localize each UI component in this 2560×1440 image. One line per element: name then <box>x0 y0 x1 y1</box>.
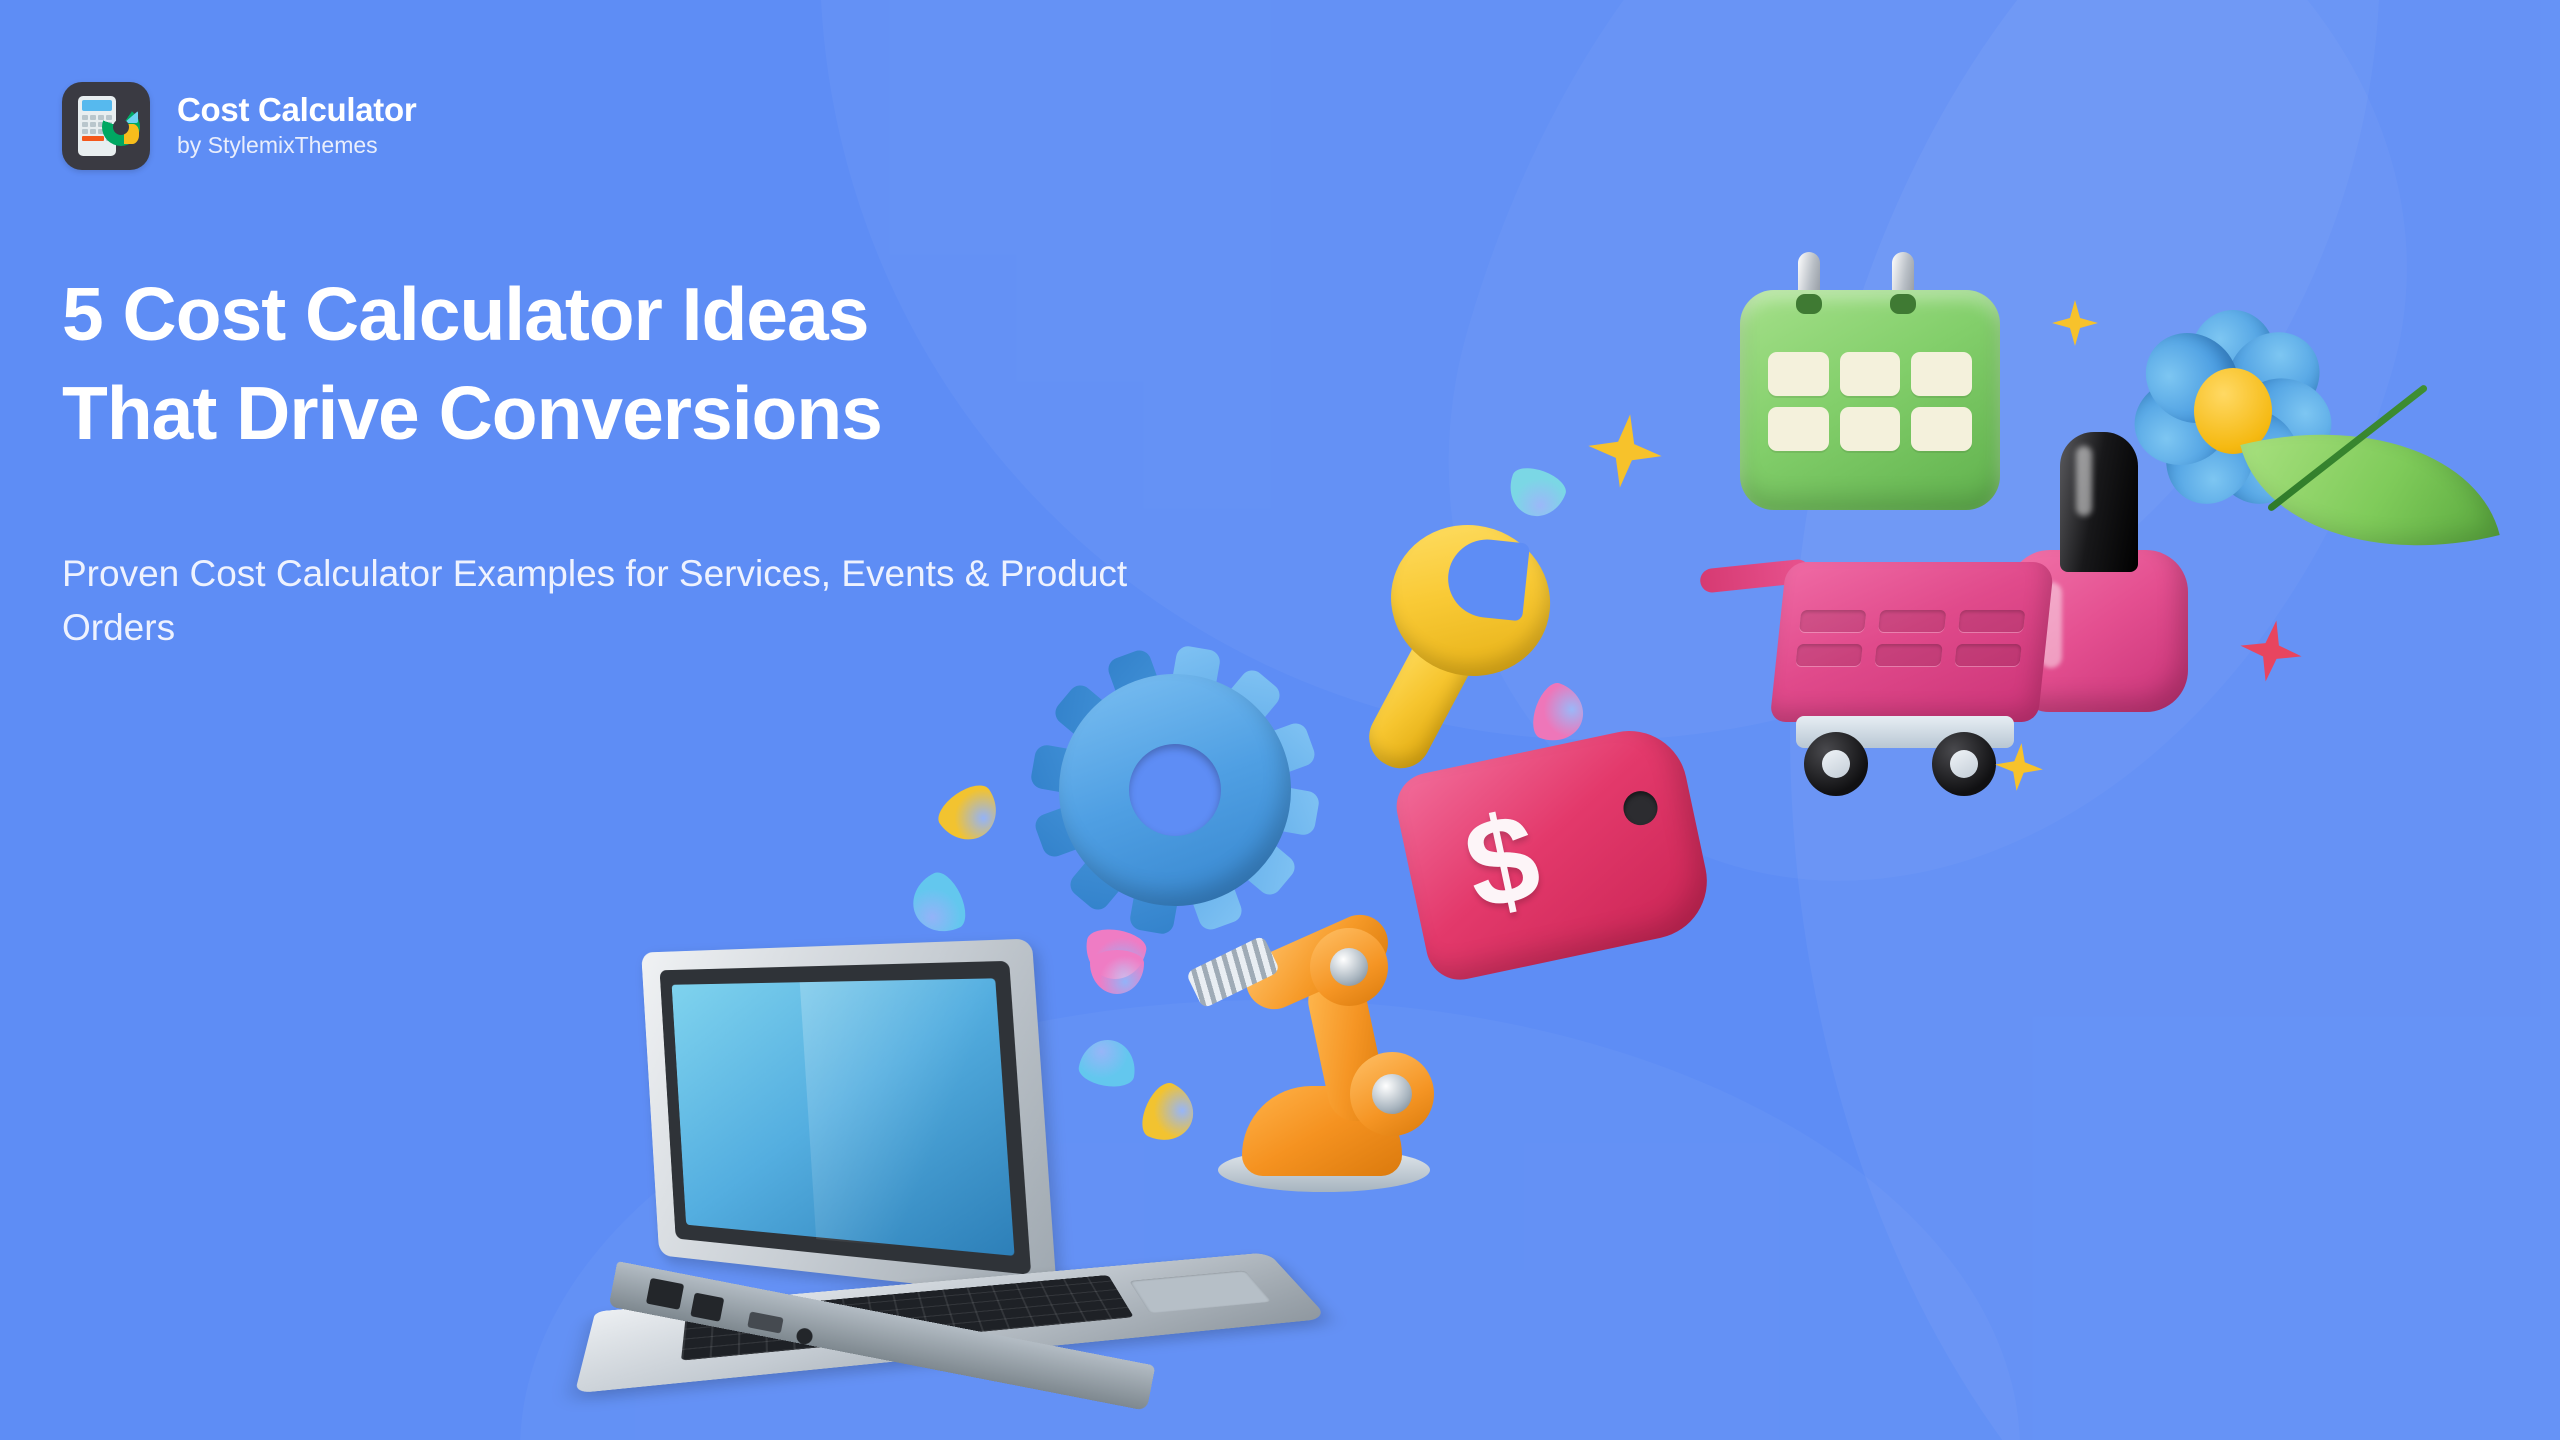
price-tag-hole <box>1620 788 1660 828</box>
gear-disc <box>1041 656 1310 925</box>
shopping-cart-icon <box>1700 550 2050 810</box>
robot-arm-icon <box>1190 900 1490 1200</box>
drop-yellow-lower <box>1135 1078 1203 1151</box>
price-tag-icon: $ <box>1390 720 1719 995</box>
robot-joint-lower <box>1350 1052 1434 1136</box>
drop-pink-laptop <box>1090 950 1144 994</box>
sparkle-yellow-large <box>1583 409 1667 493</box>
laptop-port-audio <box>795 1327 814 1346</box>
laptop-bezel <box>660 961 1032 1275</box>
calendar-icon <box>1740 290 2000 510</box>
cart-basket <box>1770 562 2055 722</box>
laptop-lid <box>641 939 1057 1300</box>
laptop-port-2 <box>690 1292 724 1321</box>
laptop-screen <box>672 978 1015 1256</box>
robot-forearm <box>1237 906 1397 1018</box>
drop-teal-upper <box>1502 462 1570 524</box>
robot-base-plate <box>1218 1148 1430 1192</box>
calendar-body <box>1740 290 2000 510</box>
calculator-screen <box>82 100 112 111</box>
calendar-ring-left <box>1798 252 1820 310</box>
background-circle-bottom <box>520 1000 2020 1440</box>
wrench-handle <box>1359 619 1483 779</box>
brand-subtitle: by StylemixThemes <box>177 131 416 161</box>
laptop-trackpad <box>1129 1270 1271 1313</box>
headline-line-2: That Drive Conversions <box>62 364 1322 463</box>
cart-wheel-right <box>1932 732 1996 796</box>
sparkle-yellow-small-right <box>1993 741 2046 794</box>
background-wedge <box>1346 0 2514 1003</box>
brand-text: Cost Calculator by StylemixThemes <box>177 91 416 161</box>
price-tag-body <box>1390 720 1717 986</box>
sparkle-yellow-small-top <box>2052 300 2098 346</box>
laptop-port-1 <box>646 1278 684 1310</box>
brand-lockup[interactable]: Cost Calculator by StylemixThemes <box>62 82 416 170</box>
drop-yellow-left <box>931 777 1008 852</box>
dollar-symbol: $ <box>1455 793 1549 930</box>
wrench-icon <box>1305 494 1585 806</box>
background-circle-right <box>1790 0 2560 1440</box>
wrench-head <box>1371 504 1570 696</box>
nail-polish-cap <box>2060 432 2138 572</box>
flower-center <box>2194 368 2272 454</box>
brand-title: Cost Calculator <box>177 91 416 129</box>
drop-pink-mid <box>1081 925 1149 984</box>
calculator-pie-chart-icon <box>62 82 150 170</box>
gear-icon <box>1001 616 1349 964</box>
laptop-port-usb <box>747 1311 783 1333</box>
cart-wheel-left <box>1804 732 1868 796</box>
laptop-base <box>575 1252 1329 1393</box>
leaf-vein <box>2267 384 2429 513</box>
drop-blue-left <box>903 867 973 942</box>
pie-chart-hole <box>113 119 129 135</box>
robot-joint-upper <box>1310 928 1388 1006</box>
flower-icon <box>2128 310 2338 510</box>
sparkle-red-right <box>2235 615 2307 687</box>
illustration-stage: $ <box>0 0 2560 1440</box>
laptop-icon <box>600 945 1360 1395</box>
cart-handle <box>1699 558 1811 593</box>
robot-gripper <box>1186 935 1281 1009</box>
cart-axle <box>1796 716 2014 748</box>
laptop-keyboard <box>681 1275 1134 1361</box>
hero-banner: Cost Calculator by StylemixThemes 5 Cost… <box>0 0 2560 1440</box>
page-title: 5 Cost Calculator Ideas That Drive Conve… <box>62 265 1322 463</box>
robot-base <box>1242 1086 1402 1176</box>
robot-upper-arm <box>1303 968 1391 1127</box>
page-subtitle: Proven Cost Calculator Examples for Serv… <box>62 547 1212 654</box>
calendar-grid <box>1768 352 1972 451</box>
calendar-ring-right <box>1892 252 1914 310</box>
nail-polish-bottle <box>2008 550 2188 712</box>
drop-blue-mid <box>1076 1035 1139 1090</box>
headline-line-1: 5 Cost Calculator Ideas <box>62 265 1322 364</box>
laptop-side-edge <box>609 1261 1156 1411</box>
leaf-icon <box>2240 389 2499 590</box>
gear-hole <box>1122 737 1229 844</box>
nail-polish-icon <box>2008 432 2188 712</box>
drop-pink-upper <box>1527 679 1592 750</box>
